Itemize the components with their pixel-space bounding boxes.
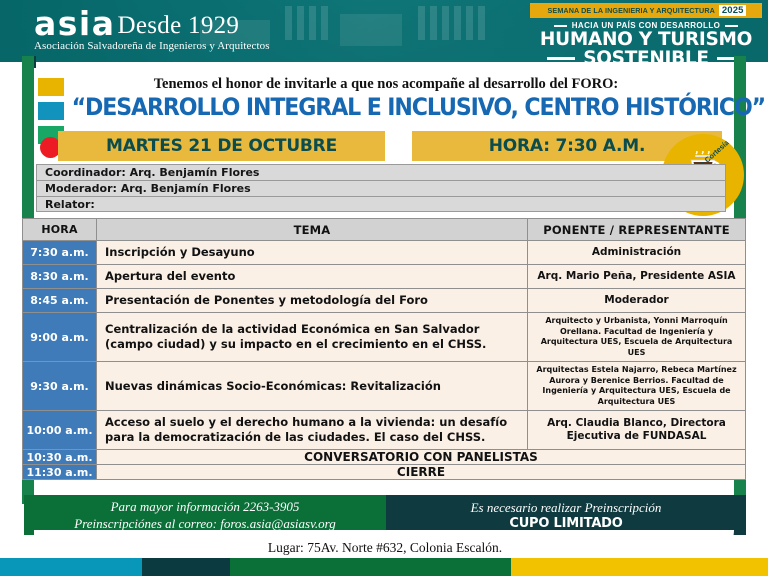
role-moderador: Moderador: Arq. Benjamín Flores <box>36 180 726 196</box>
role-coordinador: Coordinador: Arq. Benjamín Flores <box>36 164 726 180</box>
table-row: 10:00 a.m. Acceso al suelo y el derecho … <box>23 411 746 450</box>
cell-tema: Presentación de Ponentes y metodología d… <box>97 289 528 313</box>
campaign-badge: SEMANA DE LA INGENIERIA Y ARQUITECTURA 2… <box>530 3 762 62</box>
header-ponente: PONENTE / REPRESENTANTE <box>528 219 746 241</box>
role-relator: Relator: <box>36 196 726 212</box>
footer-place: Lugar: 75Av. Norte #632, Colonia Escalón… <box>24 537 746 559</box>
strip-green <box>230 558 511 576</box>
roles-block: Coordinador: Arq. Benjamín Flores Modera… <box>36 164 726 212</box>
cell-hora: 7:30 a.m. <box>23 241 97 265</box>
cell-hora: 8:45 a.m. <box>23 289 97 313</box>
footer-preins-line2: CUPO LIMITADO <box>509 516 622 531</box>
logo-subtitle: Asociación Salvadoreña de Ingenieros y A… <box>34 40 270 52</box>
dash-right-icon <box>725 25 738 27</box>
cell-hora: 8:30 a.m. <box>23 265 97 289</box>
chip-blue <box>38 102 64 120</box>
logo-since-text: Desde 1929 <box>118 13 240 39</box>
cell-ponente: Arq. Claudia Blanco, Directora Ejecutiva… <box>528 411 746 450</box>
campaign-headline-1: HUMANO Y TURISMO <box>530 30 762 49</box>
poster-header: asia Desde 1929 Asociación Salvadoreña d… <box>0 0 768 62</box>
cell-tema: Centralización de la actividad Económica… <box>97 313 528 362</box>
strip-cyan <box>0 558 142 576</box>
cell-ponente: Arquitecto y Urbanista, Yonni Marroquín … <box>528 313 746 362</box>
cell-full-text: CONVERSATORIO CON PANELISTAS <box>97 450 746 465</box>
cell-tema: Acceso al suelo y el derecho humano a la… <box>97 411 528 450</box>
event-poster: asia Desde 1929 Asociación Salvadoreña d… <box>0 0 768 576</box>
header-hora: HORA <box>23 219 97 241</box>
campaign-headline-2: SOSTENIBLE <box>583 49 709 62</box>
cell-hora: 11:30 a.m. <box>23 465 97 480</box>
strip-yellow <box>511 558 768 576</box>
logo-wordmark: asia <box>34 9 116 39</box>
bottom-color-strip <box>0 558 768 576</box>
footer-preinscription: Es necesario realizar Preinscripción CUP… <box>386 495 746 535</box>
cell-hora: 9:00 a.m. <box>23 313 97 362</box>
campaign-week-bar: SEMANA DE LA INGENIERIA Y ARQUITECTURA 2… <box>530 3 762 18</box>
cell-ponente: Administración <box>528 241 746 265</box>
table-row: 11:30 a.m. CIERRE <box>23 465 746 480</box>
schedule-table: HORA TEMA PONENTE / REPRESENTANTE 7:30 a… <box>22 218 746 480</box>
cell-tema: Inscripción y Desayuno <box>97 241 528 265</box>
campaign-headline-2-row: SOSTENIBLE <box>530 49 762 62</box>
footer-info-line1: Para mayor información 2263-3905 <box>111 498 300 515</box>
invitation-text: Tenemos el honor de invitarle a que nos … <box>56 76 716 93</box>
campaign-year: 2025 <box>719 5 747 16</box>
cell-full-text: CIERRE <box>97 465 746 480</box>
table-row: 8:45 a.m. Presentación de Ponentes y met… <box>23 289 746 313</box>
cell-tema: Apertura del evento <box>97 265 528 289</box>
footer-preins-line1: Es necesario realizar Preinscripción <box>471 500 662 516</box>
forum-title: “DESARROLLO INTEGRAL E INCLUSIVO, CENTRO… <box>72 93 707 121</box>
cell-ponente: Moderador <box>528 289 746 313</box>
strip-dark <box>142 558 230 576</box>
cell-tema: Nuevas dinámicas Socio-Económicas: Revit… <box>97 362 528 411</box>
table-row: 8:30 a.m. Apertura del evento Arq. Mario… <box>23 265 746 289</box>
dash-left-icon <box>554 25 567 27</box>
cell-hora: 10:00 a.m. <box>23 411 97 450</box>
table-header-row: HORA TEMA PONENTE / REPRESENTANTE <box>23 219 746 241</box>
footer-info: Para mayor información 2263-3905 Preinsc… <box>24 495 386 535</box>
cell-ponente: Arq. Mario Peña, Presidente ASIA <box>528 265 746 289</box>
header-tema: TEMA <box>97 219 528 241</box>
table-row: 9:00 a.m. Centralización de la actividad… <box>23 313 746 362</box>
table-row: 9:30 a.m. Nuevas dinámicas Socio-Económi… <box>23 362 746 411</box>
date-banner: MARTES 21 DE OCTUBRE <box>58 131 385 161</box>
cell-hora: 10:30 a.m. <box>23 450 97 465</box>
dash2-left-icon <box>547 57 575 60</box>
table-row: 10:30 a.m. CONVERSATORIO CON PANELISTAS <box>23 450 746 465</box>
cell-hora: 9:30 a.m. <box>23 362 97 411</box>
campaign-week-label: SEMANA DE LA INGENIERIA Y ARQUITECTURA <box>548 6 715 15</box>
asia-logo: asia Desde 1929 Asociación Salvadoreña d… <box>34 9 270 52</box>
cell-ponente: Arquitectas Estela Najarro, Rebeca Martí… <box>528 362 746 411</box>
table-row: 7:30 a.m. Inscripción y Desayuno Adminis… <box>23 241 746 265</box>
